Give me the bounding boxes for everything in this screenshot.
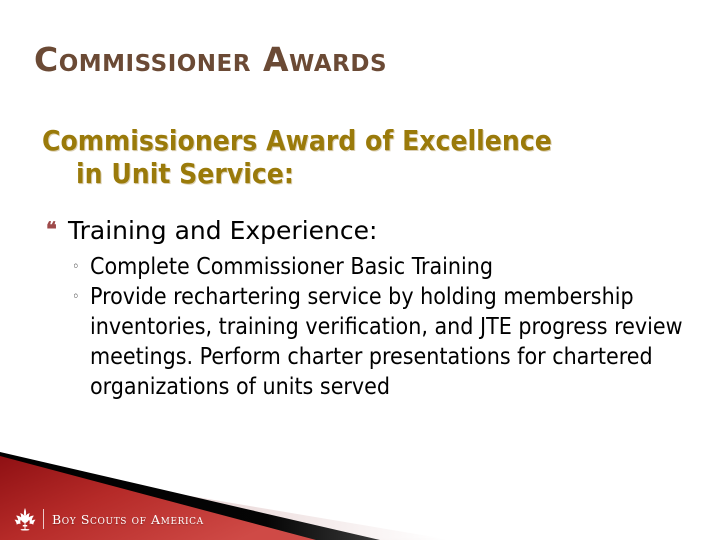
list-item-label: Provide rechartering service by holding …: [90, 282, 706, 402]
banner-pink-stripe: [0, 464, 440, 540]
page-title: Commissioner Awards: [34, 40, 684, 80]
quote-bullet-icon: ❝: [46, 214, 68, 244]
list-item: ◦ Complete Commissioner Basic Training: [46, 252, 706, 282]
circle-bullet-icon: ◦: [72, 252, 90, 282]
brand-divider: [43, 509, 44, 529]
subtitle-line-1: Commissioners Award of Excellence: [42, 124, 702, 157]
circle-bullet-icon: ◦: [72, 282, 90, 312]
list-item-label: Complete Commissioner Basic Training: [90, 252, 706, 282]
list-item: ◦ Provide rechartering service by holdin…: [46, 282, 706, 402]
footer-brand: Boy Scouts of America: [14, 506, 204, 532]
brand-label: Boy Scouts of America: [52, 512, 204, 527]
footer-banner: Boy Scouts of America: [0, 430, 720, 540]
banner-graphic: [0, 430, 720, 540]
slide-subtitle: Commissioners Award of Excellence in Uni…: [42, 124, 702, 190]
banner-black-stripe: [0, 452, 380, 540]
banner-red-wedge: [0, 456, 316, 540]
sub-bullet-list: ◦ Complete Commissioner Basic Training ◦…: [46, 252, 706, 402]
list-item-label: Training and Experience:: [68, 214, 706, 248]
subtitle-line-2: in Unit Service:: [42, 157, 702, 190]
fleur-de-lis-icon: [14, 464, 36, 540]
list-item: ❝ Training and Experience:: [46, 214, 706, 248]
banner-pink-wedge: [0, 476, 448, 540]
bullet-list: ❝ Training and Experience: ◦ Complete Co…: [46, 214, 706, 402]
slide: Commissioner Awards Commissioners Award …: [0, 0, 720, 540]
